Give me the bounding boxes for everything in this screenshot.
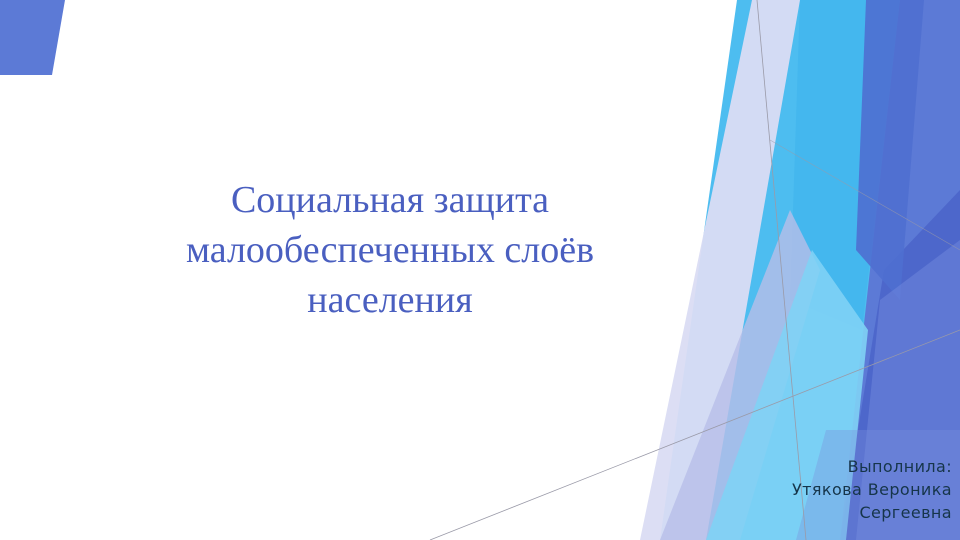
shape-cyan-light-upper — [790, 0, 900, 330]
shape-blue-upper-wedge — [856, 0, 924, 300]
presentation-slide: Социальная защита малообеспеченных слоёв… — [0, 0, 960, 540]
slide-title-block: Социальная защита малообеспеченных слоёв… — [150, 175, 630, 325]
shape-top-left-wedge — [0, 0, 65, 75]
hairline-upper-segment — [770, 140, 960, 250]
page-title: Социальная защита малообеспеченных слоёв… — [150, 175, 630, 325]
slide-author-block: Выполнила: Утякова Вероника Сергеевна — [622, 455, 952, 524]
author-credit: Выполнила: Утякова Вероника Сергеевна — [622, 455, 952, 524]
